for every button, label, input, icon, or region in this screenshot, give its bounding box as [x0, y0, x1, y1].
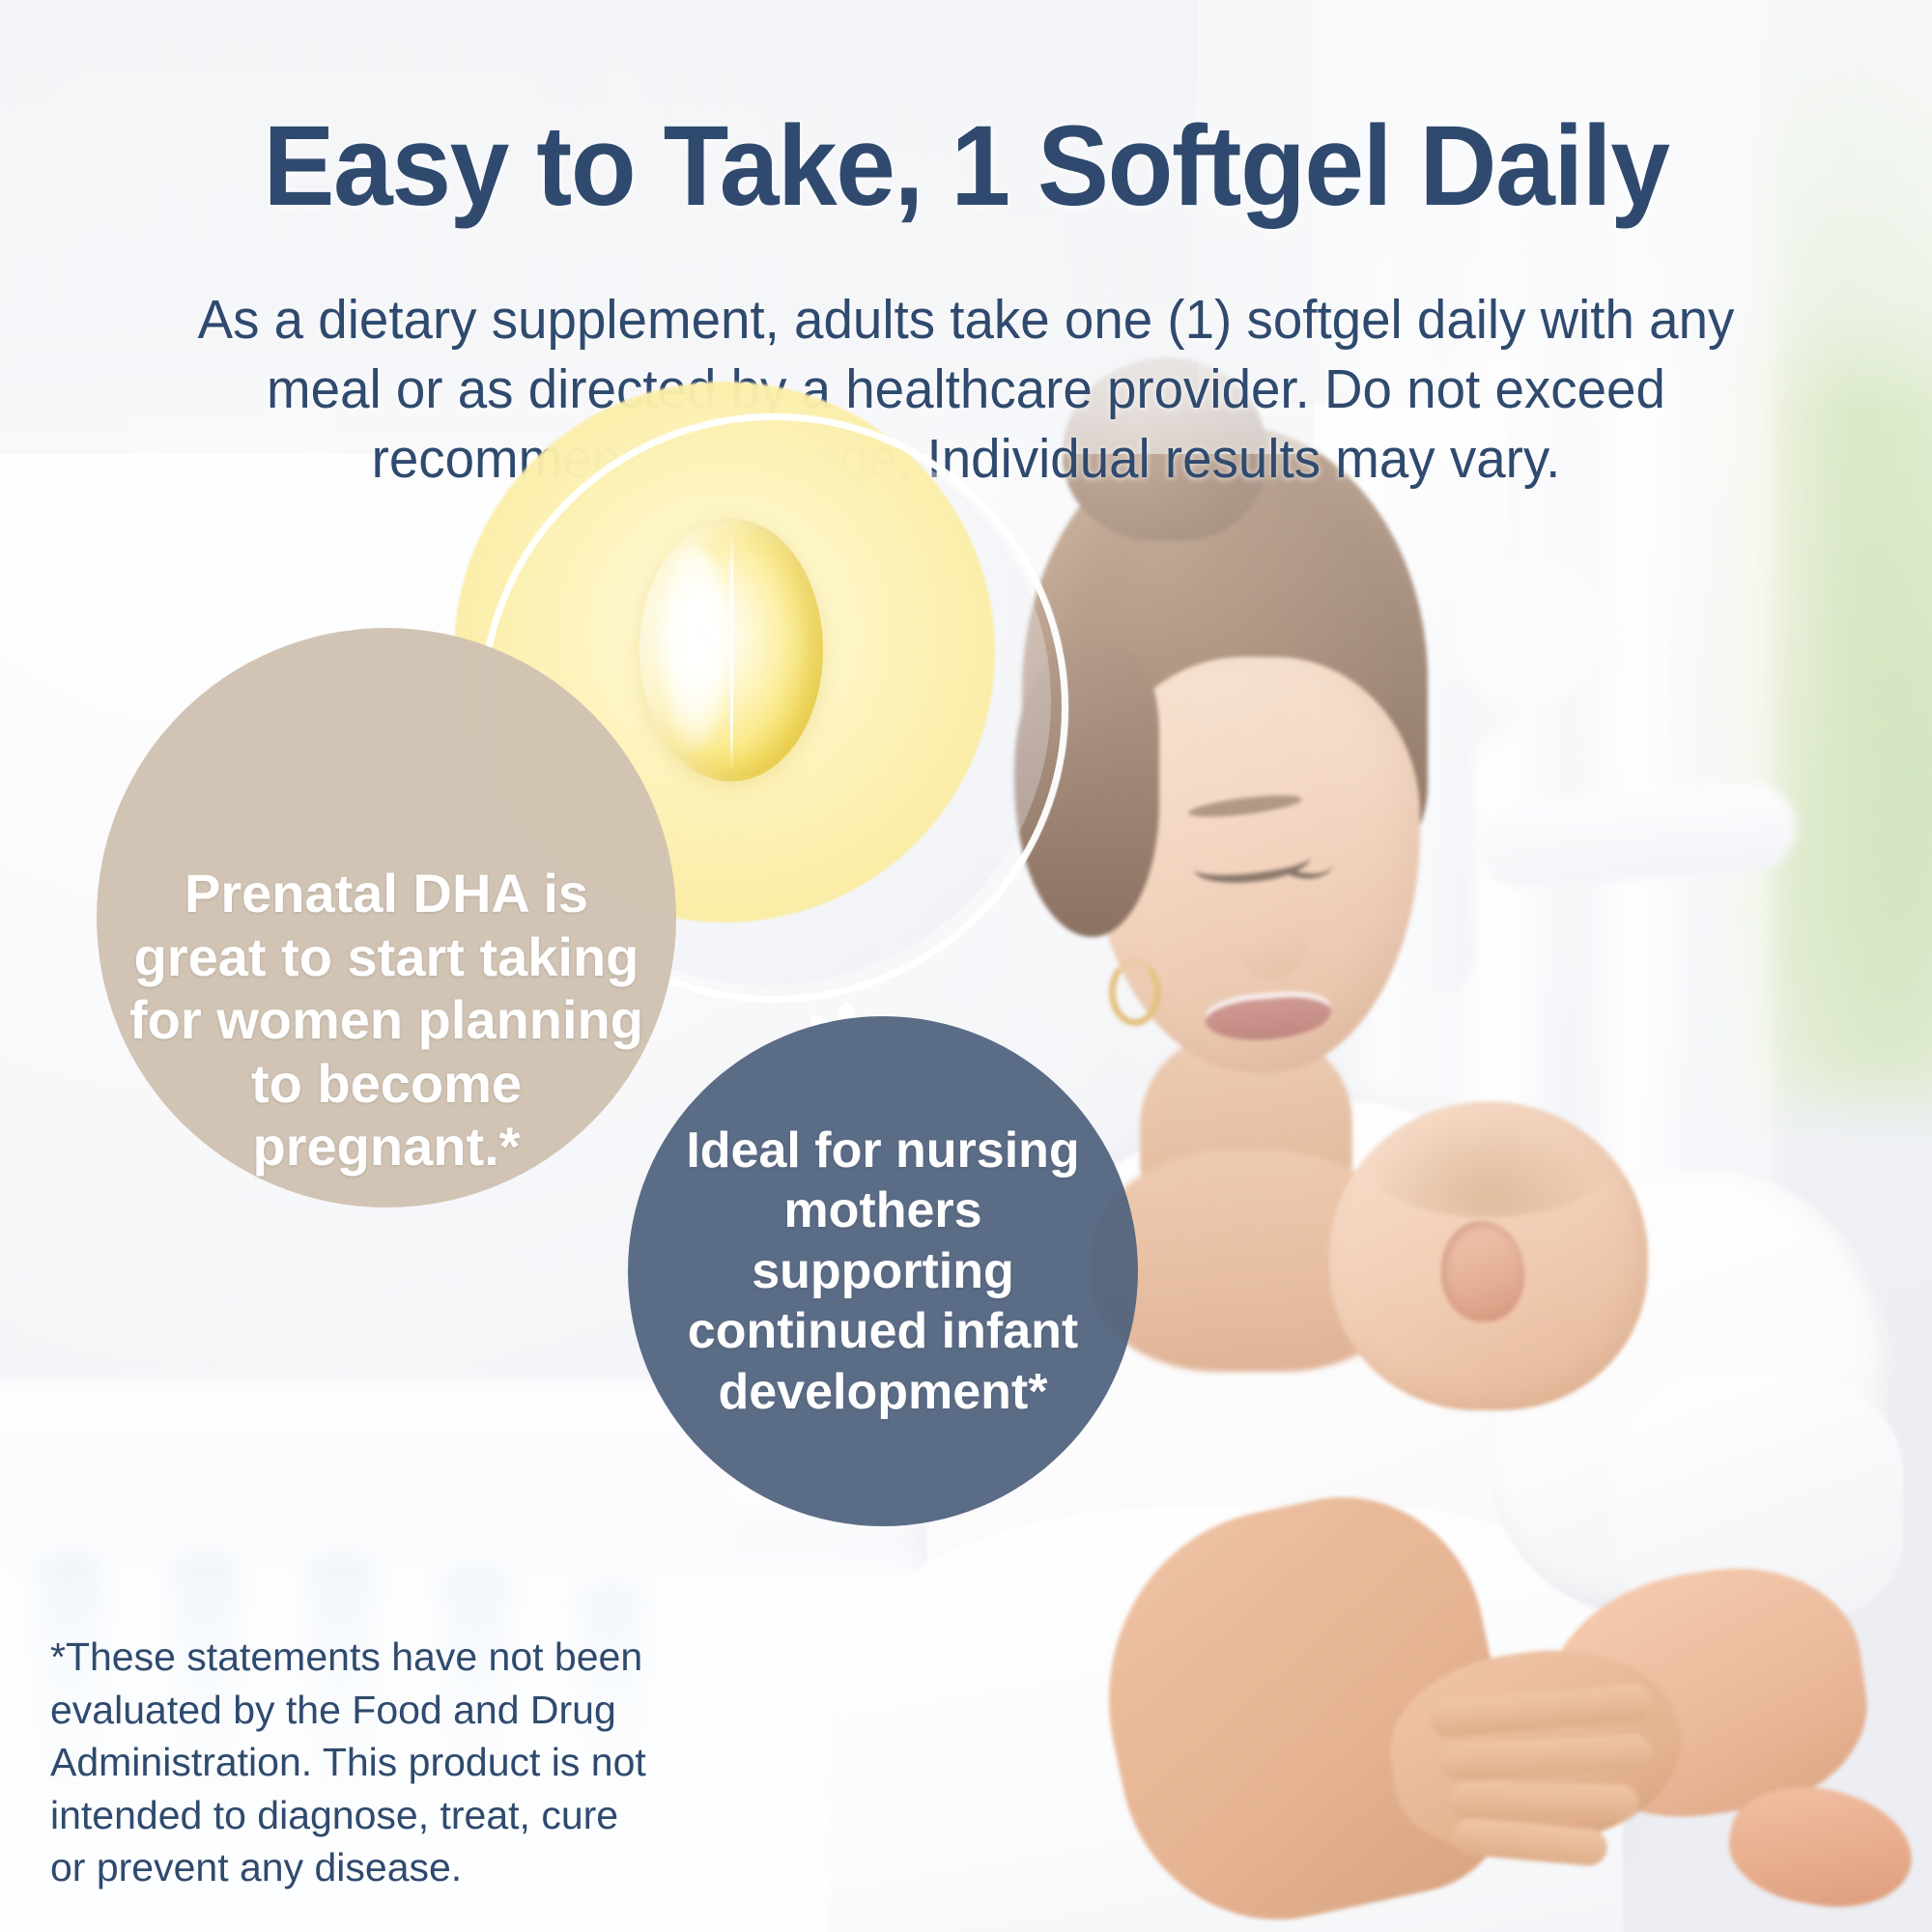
- mother-finger: [1449, 1781, 1639, 1821]
- fda-disclaimer: *These statements have not been evaluate…: [50, 1631, 649, 1894]
- mother-nose: [1236, 908, 1306, 980]
- softgel-highlight: [659, 546, 730, 751]
- baby-hair: [1362, 1101, 1613, 1217]
- feature-bubble-nursing-mothers-text: Ideal for nursing mothers supporting con…: [666, 1121, 1100, 1422]
- page-title: Easy to Take, 1 Softgel Daily: [58, 108, 1874, 224]
- feature-bubble-prenatal-dha-text: Prenatal DHA is great to start taking fo…: [126, 862, 647, 1179]
- baby-ear: [1441, 1221, 1524, 1321]
- hoop-earring: [1109, 958, 1161, 1026]
- softgel-seam: [730, 528, 733, 772]
- feature-bubble-nursing-mothers: Ideal for nursing mothers supporting con…: [628, 1016, 1138, 1526]
- feature-bubble-prenatal-dha: Prenatal DHA is great to start taking fo…: [97, 628, 676, 1207]
- infographic-canvas: Easy to Take, 1 Softgel Daily As a dieta…: [0, 0, 1932, 1932]
